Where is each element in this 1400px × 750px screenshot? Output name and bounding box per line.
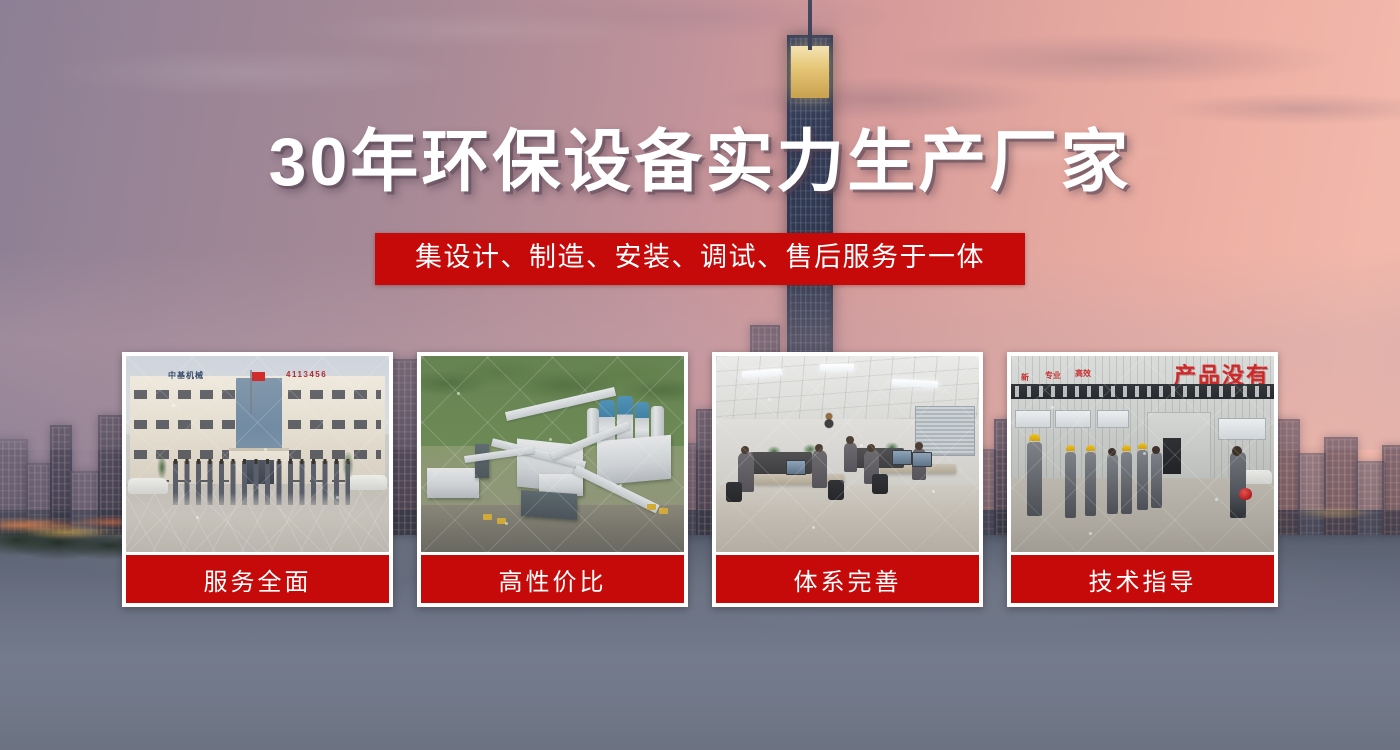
factory-slogan-1: 新: [1021, 372, 1029, 383]
feature-card-row: 中基机械 4113456 服务全面: [122, 352, 1278, 607]
card-caption-value: 高性价比: [421, 555, 684, 603]
photo-plant-aerial: [421, 356, 684, 552]
tower-crown-lights: [791, 46, 829, 98]
promo-banner: 30年环保设备实力生产厂家 集设计、制造、安装、调试、售后服务于一体 中基机械 …: [0, 0, 1400, 750]
tower-antenna-spire: [808, 0, 812, 50]
feature-card-system[interactable]: 体系完善: [712, 352, 983, 607]
card-caption-service: 服务全面: [126, 555, 389, 603]
card-caption-system: 体系完善: [716, 555, 979, 603]
feature-card-training[interactable]: 产品没有 新 专业 高效: [1007, 352, 1278, 607]
factory-slogan-3: 高效: [1075, 368, 1091, 379]
feature-card-value[interactable]: 高性价比: [417, 352, 688, 607]
photo-office-interior: [716, 356, 979, 552]
building-phone-text: 4113456: [286, 370, 327, 379]
subtitle-banner-wrap: 集设计、制造、安装、调试、售后服务于一体: [0, 233, 1400, 285]
card-caption-training: 技术指导: [1011, 555, 1274, 603]
photo-company-building: 中基机械 4113456: [126, 356, 389, 552]
building-sign-text: 中基机械: [168, 370, 204, 381]
subtitle-banner: 集设计、制造、安装、调试、售后服务于一体: [375, 233, 1025, 285]
photo-workers-factory: 产品没有 新 专业 高效: [1011, 356, 1274, 552]
feature-card-service[interactable]: 中基机械 4113456 服务全面: [122, 352, 393, 607]
factory-slogan-2: 专业: [1045, 370, 1061, 381]
page-title: 30年环保设备实力生产厂家: [0, 128, 1400, 196]
